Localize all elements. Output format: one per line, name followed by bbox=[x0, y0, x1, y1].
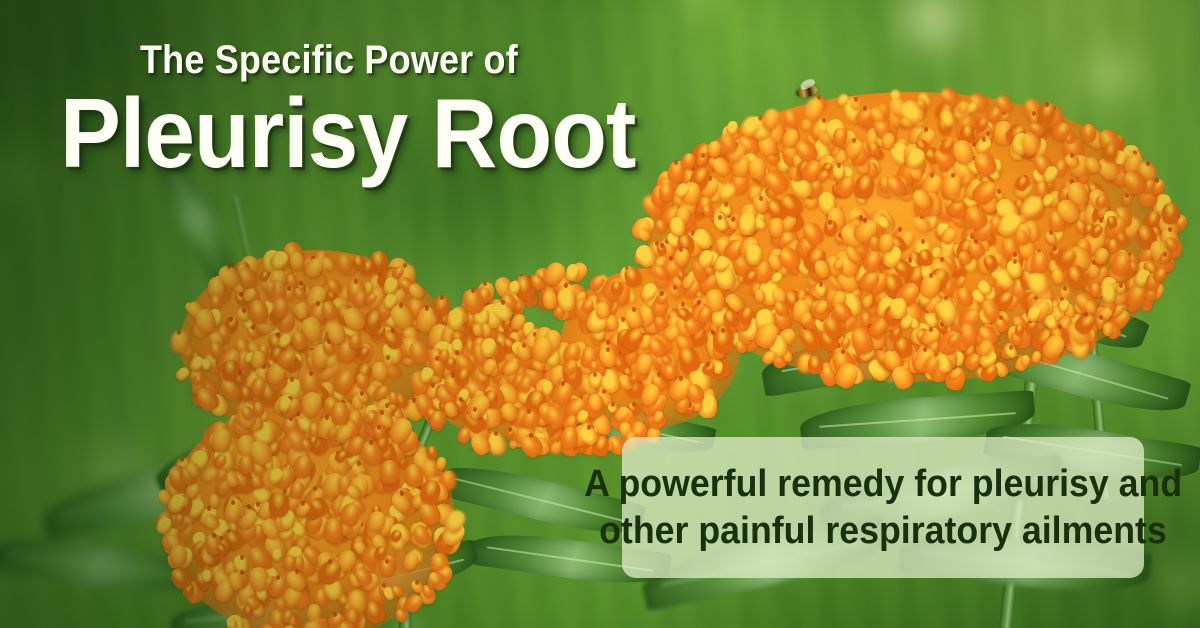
title-kicker: The Specific Power of bbox=[140, 40, 625, 80]
title-block: The Specific Power of Pleurisy Root bbox=[60, 40, 679, 184]
promotional-banner: The Specific Power of Pleurisy Root A po… bbox=[0, 0, 1200, 628]
caption-line-1: A powerful remedy for pleurisy and bbox=[584, 461, 1182, 507]
caption-line-2: other painful respiratory ailments bbox=[599, 508, 1167, 554]
page-title: Pleurisy Root bbox=[60, 84, 635, 184]
caption-box: A powerful remedy for pleurisy and other… bbox=[622, 437, 1144, 578]
